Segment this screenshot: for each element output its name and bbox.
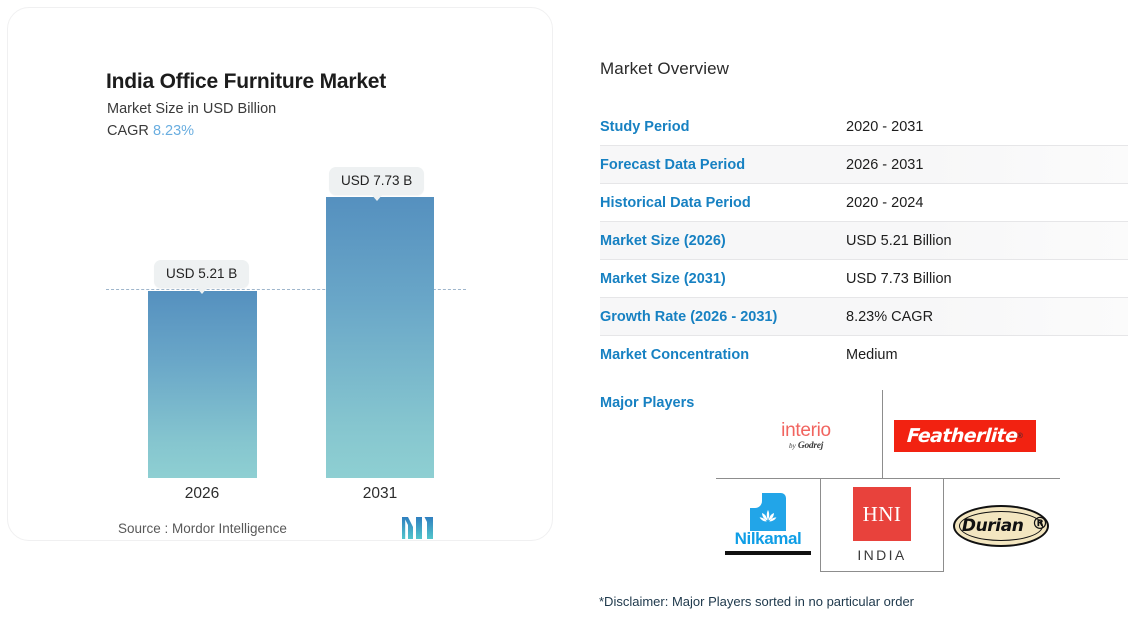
major-players-label: Major Players [600,395,694,411]
market-snapshot-page: India Office Furniture Market Market Siz… [0,0,1132,640]
player-logo-featherlite: Featherlite® [890,412,1040,460]
bar-chart-plot: USD 5.21 B USD 7.73 B 2026 2031 [8,8,554,542]
lotus-icon [759,509,777,525]
table-row: Study Period 2020 - 2031 [600,108,1128,146]
x-axis-label-2026: 2026 [132,485,272,503]
table-row: Market Concentration Medium [600,336,1128,374]
row-key: Historical Data Period [600,195,846,211]
x-axis-label-2031: 2031 [310,485,450,503]
featherlite-registered: ® [1018,433,1023,440]
row-value: USD 7.73 Billion [846,271,952,287]
featherlite-wordmark: Featherlite [906,425,1018,447]
row-value: USD 5.21 Billion [846,233,952,249]
table-row: Historical Data Period 2020 - 2024 [600,184,1128,222]
interio-byline: by Godrej [781,442,831,452]
table-row: Market Size (2031) USD 7.73 Billion [600,260,1128,298]
major-players-logo-grid: interio by Godrej Featherlite® [716,390,1060,572]
player-logo-interio: interio by Godrej [736,412,876,460]
durian-registered: ® [1032,514,1049,534]
mordor-intelligence-logo [402,516,434,540]
row-key: Study Period [600,119,846,135]
disclaimer-text: *Disclaimer: Major Players sorted in no … [599,594,914,609]
row-value: 8.23% CAGR [846,309,933,325]
source-text: Source : Mordor Intelligence [118,521,287,536]
market-overview-heading: Market Overview [600,59,729,79]
row-value: 2020 - 2024 [846,195,923,211]
row-key: Market Size (2026) [600,233,846,249]
data-label-2026: USD 5.21 B [154,260,249,288]
row-key: Forecast Data Period [600,157,846,173]
market-overview-table: Study Period 2020 - 2031 Forecast Data P… [600,108,1128,374]
data-label-2031: USD 7.73 B [329,167,424,195]
hni-subtext: INDIA [853,547,911,563]
interio-wordmark: interio [781,421,831,440]
durian-wordmark: Durian [962,516,1024,536]
player-logo-durian: Durian ® [946,502,1056,550]
nilkamal-wordmark: Nilkamal [723,529,813,549]
table-row: Forecast Data Period 2026 - 2031 [600,146,1128,184]
row-value: 2020 - 2031 [846,119,923,135]
bar-2031[interactable] [326,197,434,478]
table-row: Growth Rate (2026 - 2031) 8.23% CAGR [600,298,1128,336]
chart-card: India Office Furniture Market Market Siz… [7,7,553,541]
row-key: Growth Rate (2026 - 2031) [600,309,846,325]
row-key: Market Concentration [600,347,846,363]
row-key: Market Size (2031) [600,271,846,287]
player-logo-hni: HNI INDIA [832,482,932,568]
player-logo-nilkamal: Nilkamal [720,490,816,562]
bar-2026[interactable] [148,291,257,478]
table-row: Market Size (2026) USD 5.21 Billion [600,222,1128,260]
grid-divider-vertical [882,390,883,478]
row-value: Medium [846,347,898,363]
hni-mark: HNI [853,487,911,541]
nilkamal-underline [725,551,811,555]
row-value: 2026 - 2031 [846,157,923,173]
hni-wordmark: HNI [863,502,902,527]
